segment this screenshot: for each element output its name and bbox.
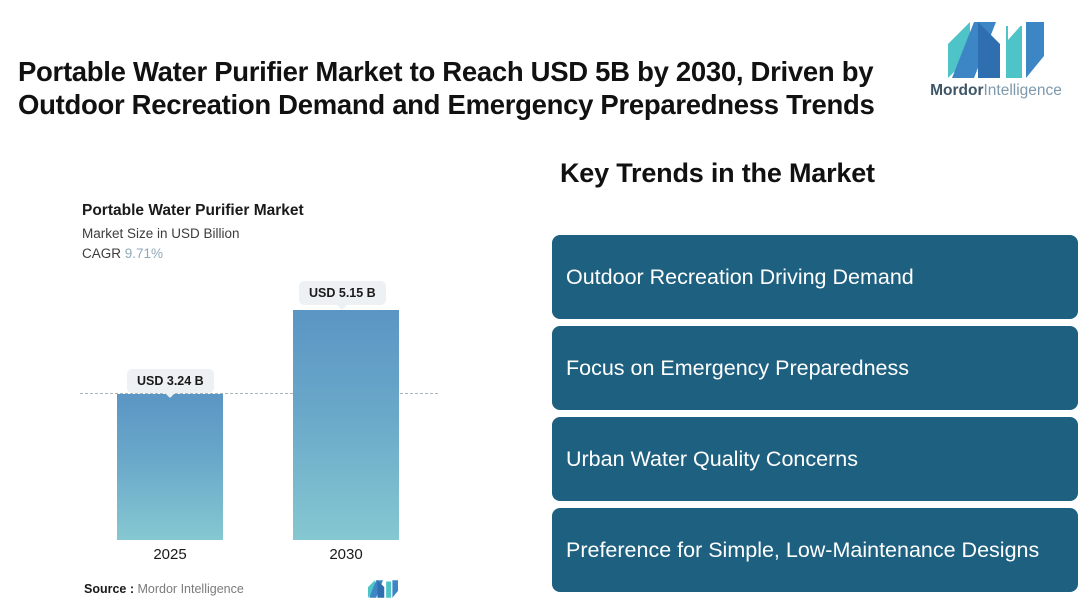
x-axis-tick-2025: 2025 <box>117 546 223 563</box>
bar-2030 <box>293 310 399 540</box>
source-line: Source : Mordor Intelligence <box>84 582 244 596</box>
trends-panel: Key Trends in the Market Outdoor Recreat… <box>552 140 1080 604</box>
brand-logo: MordorIntelligence <box>928 22 1064 108</box>
trend-card-label: Outdoor Recreation Driving Demand <box>566 263 914 291</box>
trend-list: Outdoor Recreation Driving Demand Focus … <box>552 235 1078 599</box>
mordor-logo-icon <box>948 22 1044 78</box>
trend-card[interactable]: Outdoor Recreation Driving Demand <box>552 235 1078 319</box>
trend-card-label: Preference for Simple, Low-Maintenance D… <box>566 536 1039 564</box>
bar-value-label-2030: USD 5.15 B <box>299 281 386 305</box>
trend-card-label: Focus on Emergency Preparedness <box>566 354 909 382</box>
trends-heading: Key Trends in the Market <box>560 158 875 189</box>
source-value: Mordor Intelligence <box>138 582 244 596</box>
source-label: Source : <box>84 582 134 596</box>
brand-wordmark: MordorIntelligence <box>928 82 1064 100</box>
trend-card[interactable]: Urban Water Quality Concerns <box>552 417 1078 501</box>
plot-area: USD 3.24 B USD 5.15 B 2025 2030 <box>0 140 520 604</box>
trend-card-label: Urban Water Quality Concerns <box>566 445 858 473</box>
mordor-logo-icon <box>368 580 398 598</box>
page-title: Portable Water Purifier Market to Reach … <box>18 55 898 121</box>
bar-2025 <box>117 394 223 540</box>
chart-panel: Portable Water Purifier Market Market Si… <box>0 140 520 604</box>
brand-name-light: Intelligence <box>983 82 1061 99</box>
trend-card[interactable]: Focus on Emergency Preparedness <box>552 326 1078 410</box>
bar-value-label-2025: USD 3.24 B <box>127 369 214 393</box>
header: Portable Water Purifier Market to Reach … <box>0 0 1080 140</box>
trend-card[interactable]: Preference for Simple, Low-Maintenance D… <box>552 508 1078 592</box>
x-axis-tick-2030: 2030 <box>293 546 399 563</box>
brand-name-bold: Mordor <box>930 82 983 99</box>
